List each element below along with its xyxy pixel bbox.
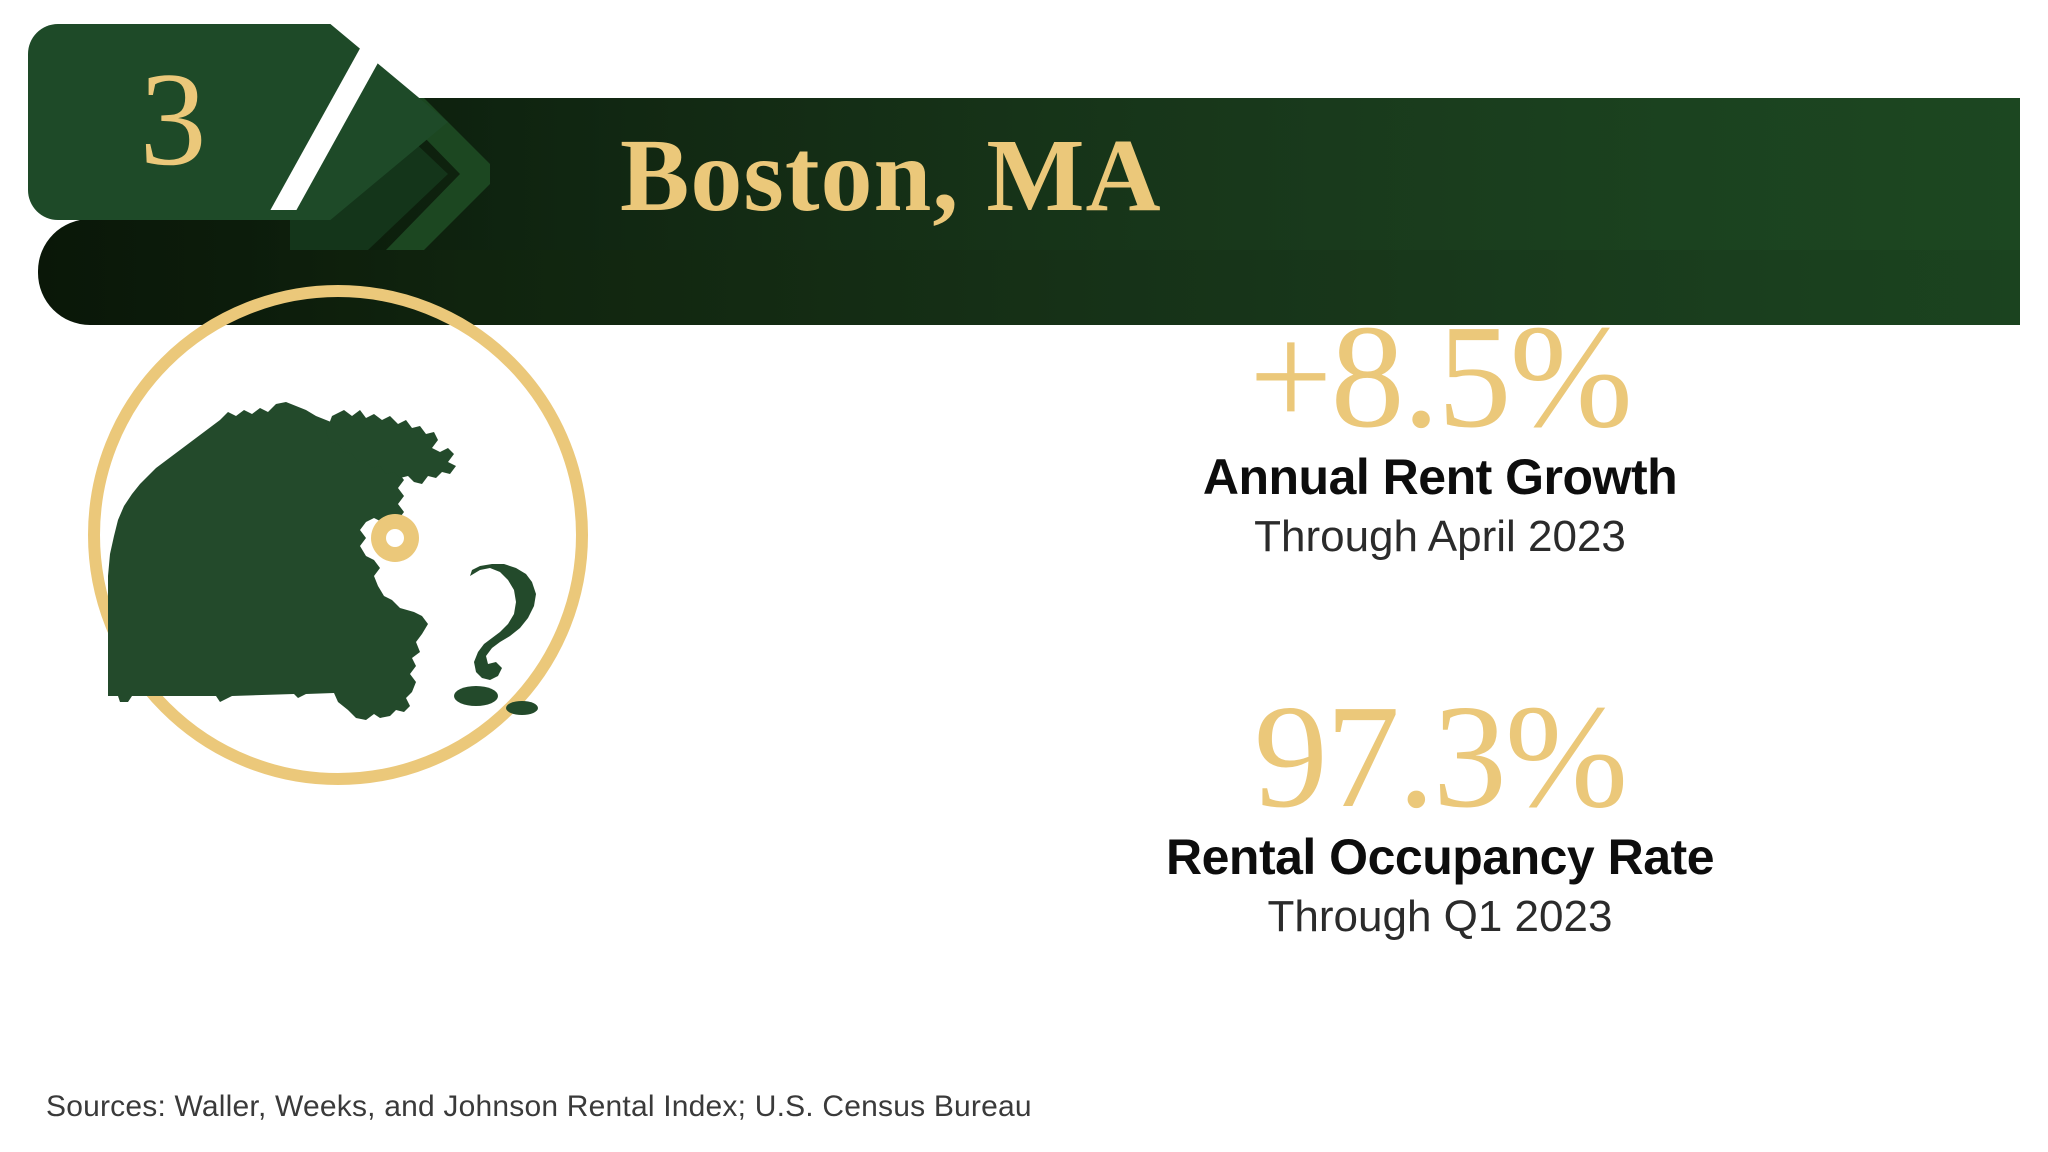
- stats-panel: +8.5% Annual Rent Growth Through April 2…: [1060, 300, 1820, 943]
- stat-block-rent-growth: +8.5% Annual Rent Growth Through April 2…: [1060, 300, 1820, 564]
- stat-value-occupancy: 97.3%: [1060, 680, 1820, 835]
- stat-period-occupancy: Through Q1 2023: [1060, 891, 1820, 944]
- massachusetts-map-icon: [98, 380, 588, 730]
- header-banner: 3 Boston, MA: [0, 0, 2048, 330]
- page-title: Boston, MA: [620, 100, 1162, 250]
- rank-number: 3: [28, 24, 318, 220]
- stat-period-rent-growth: Through April 2023: [1060, 511, 1820, 564]
- stat-label-rent-growth: Annual Rent Growth: [1060, 449, 1820, 507]
- stat-label-occupancy: Rental Occupancy Rate: [1060, 829, 1820, 887]
- rank-badge: 3: [28, 24, 448, 220]
- state-map-medallion: [88, 285, 588, 785]
- stat-block-occupancy: 97.3% Rental Occupancy Rate Through Q1 2…: [1060, 680, 1820, 944]
- sources-note: Sources: Waller, Weeks, and Johnson Rent…: [46, 1090, 1032, 1124]
- stat-value-rent-growth: +8.5%: [1060, 300, 1820, 455]
